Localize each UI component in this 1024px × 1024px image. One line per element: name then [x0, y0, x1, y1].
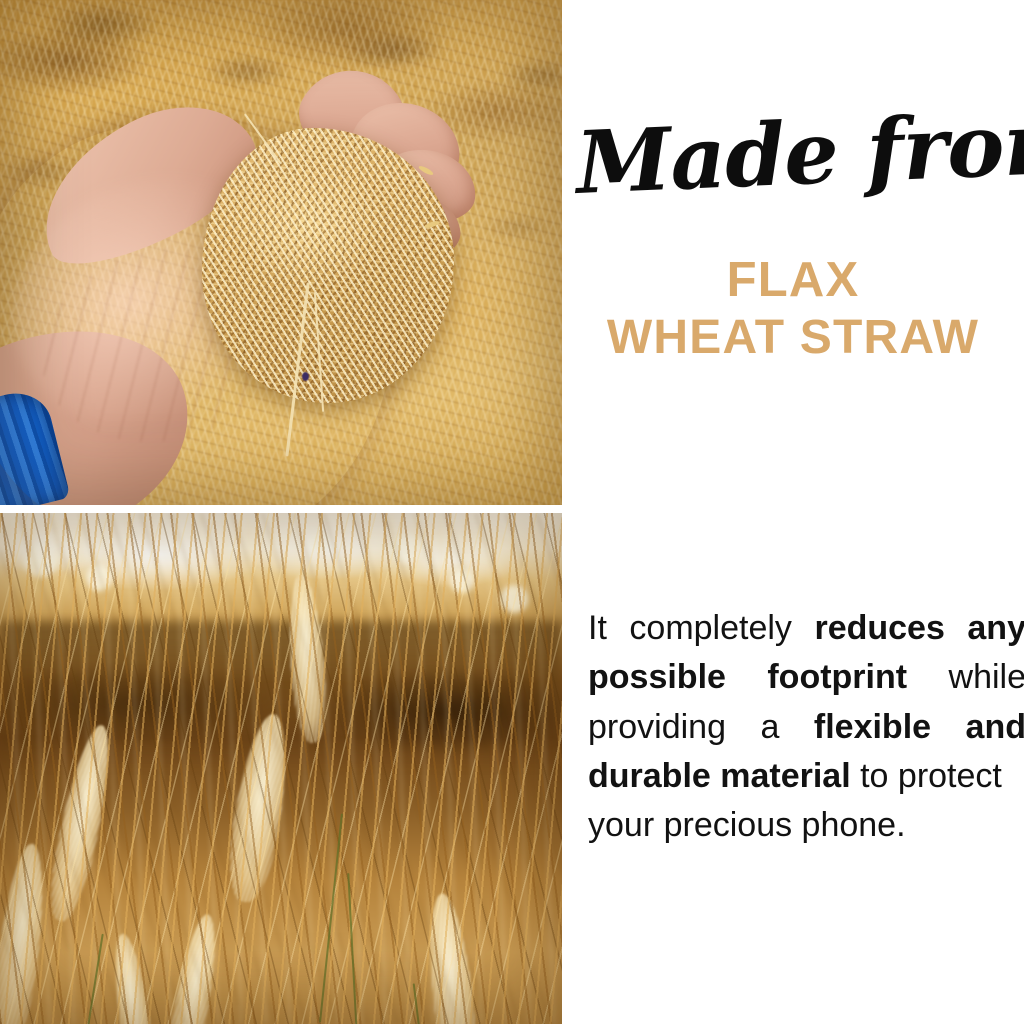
material-headline: FLAX WHEAT STRAW: [562, 252, 1024, 366]
grass-blade-texture: [0, 513, 562, 1024]
handful-of-chaff: [202, 128, 454, 403]
ink-mark-on-palm: [302, 372, 309, 381]
text-column: Made from FLAX WHEAT STRAW It completely…: [562, 0, 1024, 1024]
headline-line-flax: FLAX: [562, 252, 1024, 310]
body-segment-1: It completely: [588, 609, 814, 647]
chaff-grain-texture: [202, 128, 454, 403]
photo-hand-holding-rice-chaff: [0, 0, 562, 505]
headline-line-wheat-straw: WHEAT STRAW: [562, 310, 1024, 367]
script-heading-made-from: Made from: [574, 103, 1009, 207]
body-segment-tail: your precious phone.: [588, 801, 1024, 850]
body-segment-5: to protect: [851, 757, 1002, 795]
poster-canvas: Made from FLAX WHEAT STRAW It completely…: [0, 0, 1024, 1024]
body-paragraph: It completely reduces any possible footp…: [588, 604, 1024, 850]
photo-backlit-golden-grasses: [0, 513, 562, 1024]
